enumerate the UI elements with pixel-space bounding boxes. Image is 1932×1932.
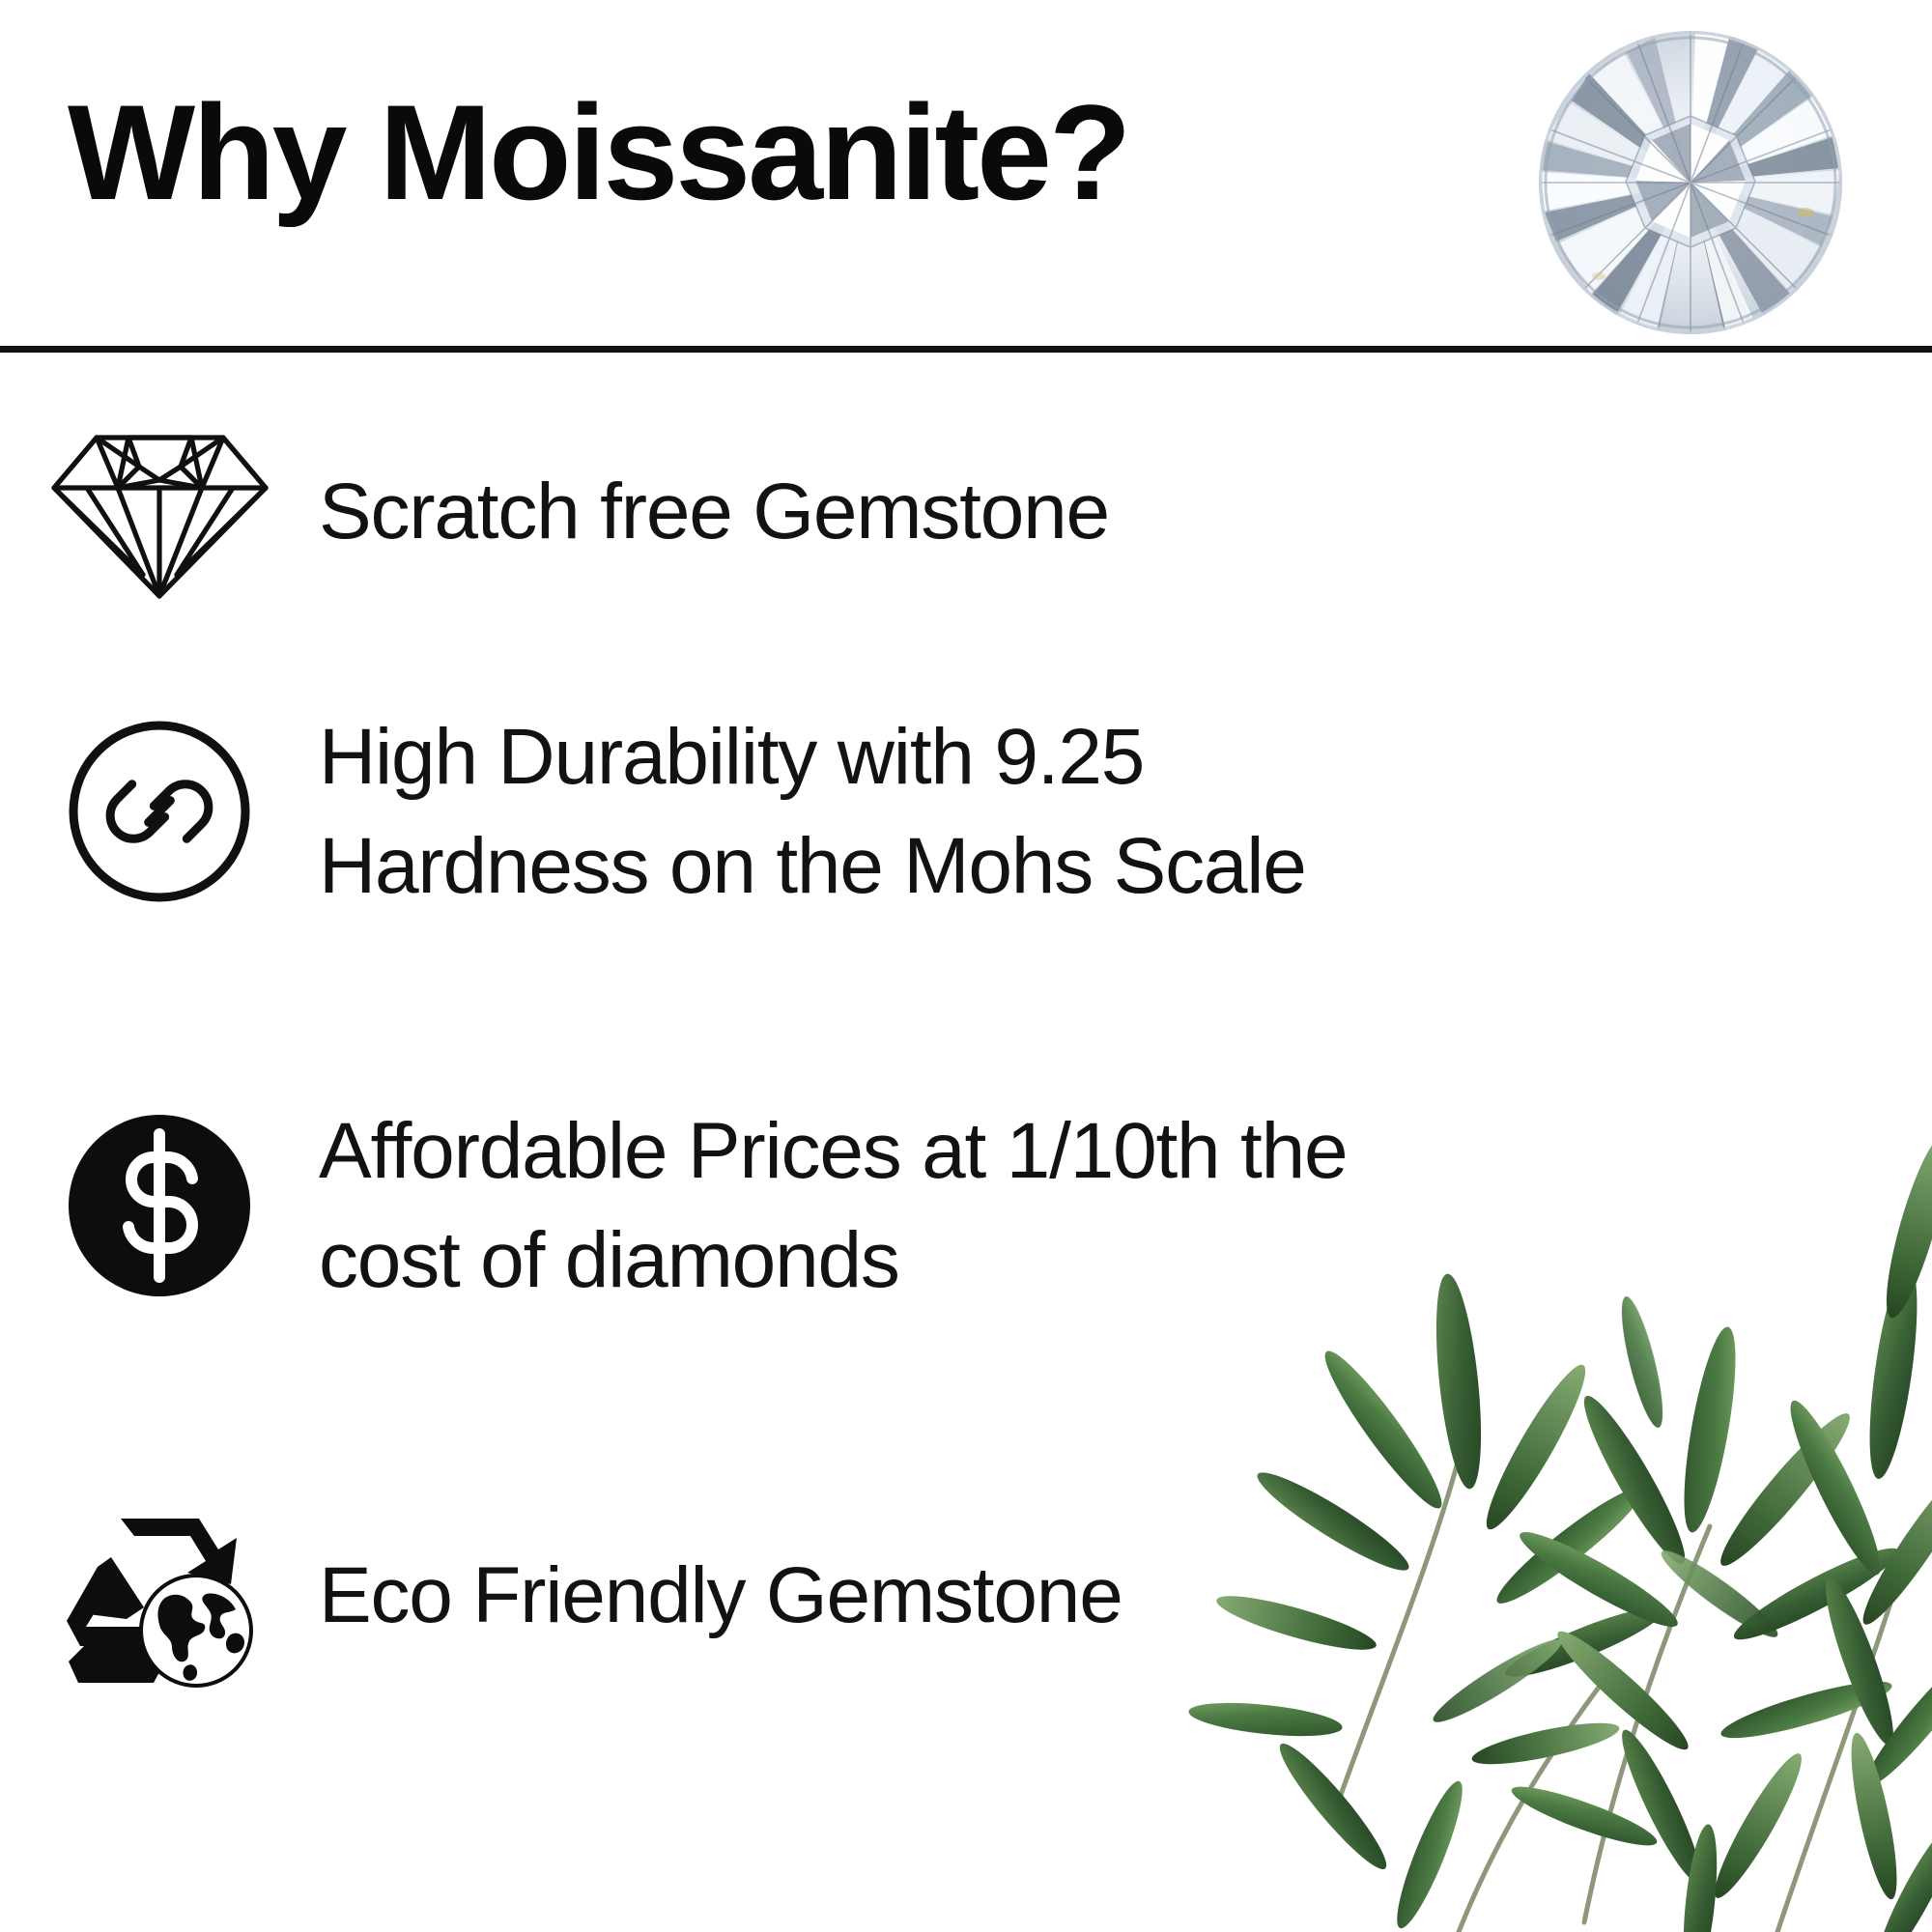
feature-line: High Durability with 9.25 xyxy=(319,702,1306,811)
feature-line: Affordable Prices at 1/10th the xyxy=(319,1096,1347,1206)
feature-line: cost of diamonds xyxy=(319,1206,1347,1315)
feature-row-eco-friendly: Eco Friendly Gemstone xyxy=(0,1451,1932,1741)
diamond-outline-icon xyxy=(0,420,319,604)
feature-line: Hardness on the Mohs Scale xyxy=(319,811,1306,921)
page-title: Why Moissanite? xyxy=(68,85,1128,220)
feature-row-affordable: Affordable Prices at 1/10th the cost of … xyxy=(0,1061,1932,1350)
header: Why Moissanite? xyxy=(0,0,1932,350)
moissanite-gem-photo xyxy=(1531,23,1850,342)
dollar-coin-icon xyxy=(0,1111,319,1300)
feature-line: Eco Friendly Gemstone xyxy=(319,1541,1122,1650)
feature-line: Scratch free Gemstone xyxy=(319,457,1109,566)
feature-row-scratch-free: Scratch free Gemstone xyxy=(0,386,1932,638)
recycle-globe-icon xyxy=(0,1499,319,1692)
feature-text-durability: High Durability with 9.25 Hardness on th… xyxy=(319,702,1306,921)
infographic-canvas: Why Moissanite? xyxy=(0,0,1932,1932)
link-circle-icon xyxy=(0,715,319,908)
feature-text-affordable: Affordable Prices at 1/10th the cost of … xyxy=(319,1096,1347,1315)
features-list: Scratch free Gemstone High Durability wi… xyxy=(0,350,1932,1932)
feature-row-durability: High Durability with 9.25 Hardness on th… xyxy=(0,667,1932,956)
feature-text-scratch-free: Scratch free Gemstone xyxy=(319,457,1109,566)
feature-text-eco-friendly: Eco Friendly Gemstone xyxy=(319,1541,1122,1650)
